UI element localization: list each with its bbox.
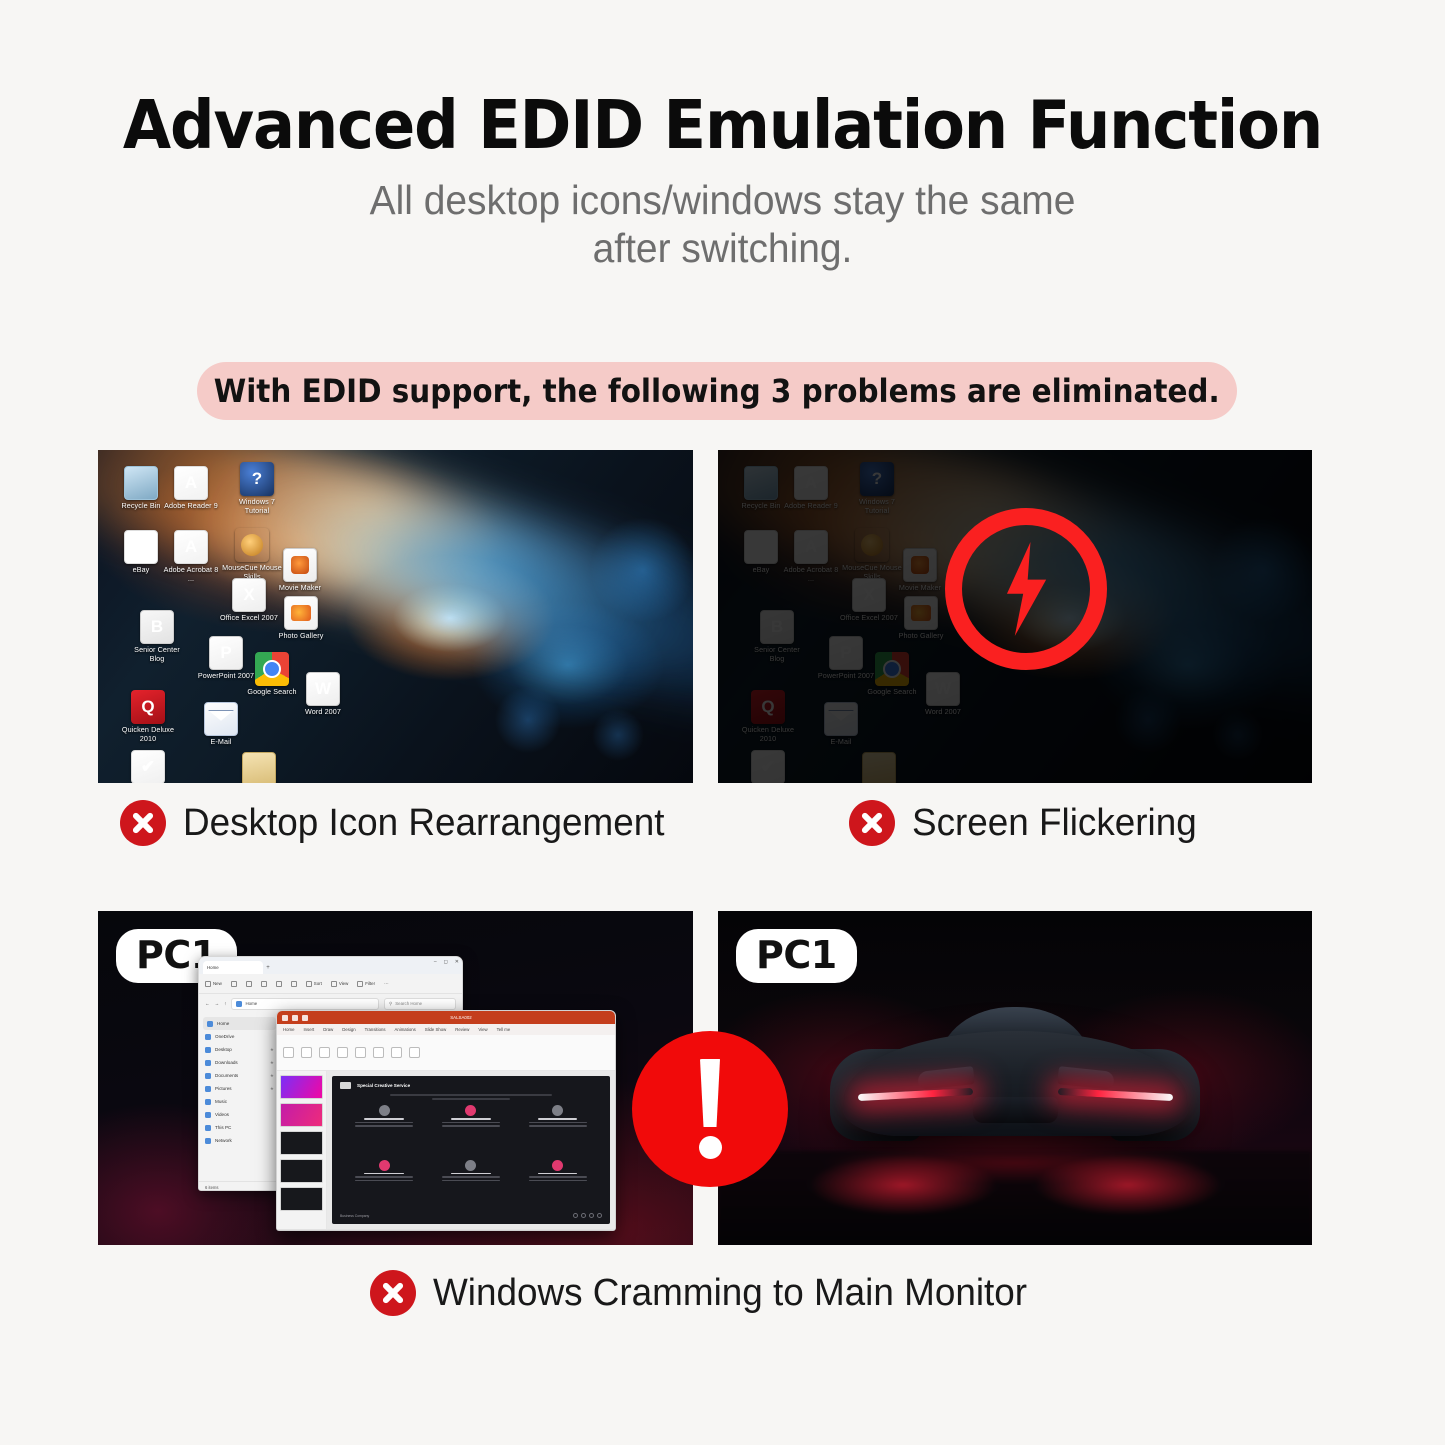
caption-windows-cramming: Windows Cramming to Main Monitor	[370, 1270, 1045, 1316]
sidebar-item-label: Videos	[215, 1112, 229, 1117]
home-icon	[207, 1021, 213, 1027]
icon-glyph: X	[232, 578, 266, 612]
slide-feature-cell	[430, 1160, 513, 1211]
pin-icon[interactable]: ★	[270, 1060, 274, 1066]
ground-reflection	[718, 1151, 1312, 1245]
panel-desktop-normal: Recycle BinAAdobe Reader 9?Windows 7 Tut…	[98, 450, 693, 783]
sidebar-item-label: Downloads	[215, 1060, 238, 1065]
tab-transitions[interactable]: Transitions	[365, 1027, 386, 1032]
font-icon[interactable]	[337, 1047, 348, 1058]
panel-windows-cramming: PC1 Home + – ◻ ✕ New So	[98, 911, 693, 1245]
paste-icon[interactable]	[283, 1047, 294, 1058]
icon-glyph: ✔	[131, 750, 165, 783]
arrange-icon[interactable]	[391, 1047, 402, 1058]
home-icon	[236, 1001, 242, 1007]
desktop-icon-label: Word 2007	[292, 708, 354, 717]
icon-glyph: ?	[240, 462, 274, 496]
slide-thumbnail[interactable]	[280, 1159, 323, 1183]
powerpoint-body: Special Creative Service Business Compan…	[277, 1071, 615, 1229]
sidebar-item-label: Network	[215, 1138, 232, 1143]
sidebar-item-desktop[interactable]: Desktop★	[199, 1043, 280, 1056]
slide-thumbnail[interactable]	[280, 1075, 323, 1099]
x-circle-icon	[849, 800, 895, 846]
icon-glyph: eb	[124, 530, 158, 564]
breadcrumb[interactable]: Home	[231, 998, 379, 1010]
feature-icon	[379, 1160, 390, 1171]
pictures-icon	[205, 1086, 211, 1092]
desktop-icon-label: Quicken Deluxe 2010	[117, 726, 179, 744]
desktop-icon-e-mail[interactable]: E-Mail	[190, 702, 252, 747]
slide-canvas: Special Creative Service Business Compan…	[332, 1076, 610, 1224]
sidebar-item-onedrive[interactable]: OneDrive	[199, 1030, 280, 1043]
desktop-icon-grid: Recycle BinAAdobe Reader 9?Windows 7 Tut…	[98, 450, 693, 783]
sidebar-item-pictures[interactable]: Pictures★	[199, 1082, 280, 1095]
desktop-icon-label: Senior Center Blog	[126, 646, 188, 664]
sidebar-item-network[interactable]: Network	[199, 1134, 280, 1147]
desktop-icon-bwsc-manuals[interactable]: BWSC Manuals	[228, 752, 290, 783]
desktop-icon-windows-7-tutorial[interactable]: ?Windows 7 Tutorial	[226, 462, 288, 516]
icon-glyph: A	[174, 466, 208, 500]
onedrive-icon	[205, 1034, 211, 1040]
slide-feature-grid	[340, 1100, 602, 1210]
feature-title-line	[538, 1173, 578, 1175]
tab-draw[interactable]: Draw	[323, 1027, 333, 1032]
sidebar-item-videos[interactable]: Videos	[199, 1108, 280, 1121]
slide-thumbnail[interactable]	[280, 1131, 323, 1155]
feature-icon	[379, 1105, 390, 1116]
sidebar-item-home[interactable]: Home	[203, 1017, 276, 1030]
sidebar-item-label: OneDrive	[215, 1034, 234, 1039]
feature-icon	[465, 1105, 476, 1116]
window-controls[interactable]: – ◻ ✕	[434, 959, 459, 965]
tab-home-label: Home	[207, 965, 219, 970]
tab-animations[interactable]: Animations	[395, 1027, 416, 1032]
slide-footer-text: Business Company	[340, 1214, 369, 1218]
new-button-label: New	[213, 981, 222, 986]
feature-text-line	[355, 1125, 413, 1127]
close-icon[interactable]: ✕	[455, 959, 459, 965]
file-explorer-toolbar: New Sort View Filter ⋯	[199, 974, 462, 994]
feature-title-line	[451, 1173, 491, 1175]
powerpoint-title: SALSA002	[312, 1015, 610, 1020]
rename-icon[interactable]	[276, 981, 282, 987]
desktop-icon-adobe-acrobat-8[interactable]: AAdobe Acrobat 8 ...	[160, 530, 222, 584]
desktop-icon-label: E-Mail	[190, 738, 252, 747]
shapes-icon[interactable]	[373, 1047, 384, 1058]
filter-button[interactable]: Filter	[357, 981, 375, 987]
desktop-icon-senior-center-blog[interactable]: BSenior Center Blog	[126, 610, 188, 664]
icon-glyph	[124, 466, 158, 500]
caption-desktop-icon-rearrangement: Desktop Icon Rearrangement	[120, 800, 679, 846]
x-circle-icon	[120, 800, 166, 846]
edid-support-banner: With EDID support, the following 3 probl…	[197, 362, 1237, 420]
exclamation-dot	[699, 1136, 722, 1159]
new-button[interactable]: New	[205, 981, 222, 987]
sort-button[interactable]: Sort	[306, 981, 322, 987]
page-subtitle-line1: All desktop icons/windows stay the same	[36, 176, 1409, 224]
copy-icon[interactable]	[246, 981, 252, 987]
desktop-icon-label: Adobe Acrobat 8 ...	[160, 566, 222, 584]
slide-thumbnail[interactable]	[280, 1187, 323, 1211]
feature-text-line	[355, 1122, 413, 1124]
slide-feature-cell	[516, 1105, 599, 1156]
feature-title-line	[451, 1118, 491, 1120]
desktop-icon	[205, 1047, 211, 1053]
slide-header: Special Creative Service	[340, 1082, 602, 1089]
slide-subtitle-line	[390, 1094, 552, 1096]
view-button-label: View	[339, 981, 348, 986]
page-subtitle-line2: after switching.	[36, 224, 1409, 272]
x-circle-icon	[370, 1270, 416, 1316]
feature-text-line	[442, 1122, 500, 1124]
powerpoint-ribbon-tabs: HomeInsertDrawDesignTransitionsAnimation…	[277, 1024, 615, 1035]
feature-text-line	[529, 1125, 587, 1127]
desktop-icon-photo-gallery[interactable]: Photo Gallery	[270, 596, 332, 641]
downloads-icon	[205, 1060, 211, 1066]
sidebar-item-documents[interactable]: Documents★	[199, 1069, 280, 1082]
slide-footer: Business Company	[340, 1210, 602, 1218]
icon-glyph	[235, 528, 269, 562]
panel-main-monitor: PC1	[718, 911, 1312, 1245]
feature-text-line	[529, 1122, 587, 1124]
banner-text: With EDID support, the following 3 probl…	[214, 372, 1220, 410]
file-explorer-tabbar: Home + – ◻ ✕	[199, 957, 462, 974]
pin-icon[interactable]: ★	[270, 1086, 274, 1092]
save-icon[interactable]	[282, 1015, 288, 1021]
redo-icon[interactable]	[302, 1015, 308, 1021]
feature-title-line	[538, 1118, 578, 1120]
tab-slide-show[interactable]: Slide Show	[425, 1027, 447, 1032]
up-icon[interactable]: ↑	[224, 1001, 226, 1006]
new-tab-button[interactable]: +	[263, 961, 273, 974]
powerpoint-window[interactable]: SALSA002 HomeInsertDrawDesignTransitions…	[276, 1010, 616, 1231]
icon-glyph	[283, 548, 317, 582]
feature-title-line	[364, 1173, 404, 1175]
maximize-icon[interactable]: ◻	[444, 959, 448, 965]
delete-icon[interactable]	[291, 981, 297, 987]
car-grille	[973, 1097, 1058, 1123]
new-slide-icon[interactable]	[301, 1047, 312, 1058]
lightning-bolt-icon	[945, 508, 1107, 670]
tab-insert[interactable]: Insert	[303, 1027, 314, 1032]
view-button[interactable]: View	[331, 981, 348, 987]
icon-glyph: B	[140, 610, 174, 644]
desktop-icon-label: Adobe Reader 9	[160, 502, 222, 511]
feature-text-line	[529, 1180, 587, 1182]
feature-title-line	[364, 1118, 404, 1120]
sidebar-item-label: This PC	[215, 1125, 231, 1130]
breadcrumb-label: Home	[245, 1001, 257, 1006]
undo-icon[interactable]	[292, 1015, 298, 1021]
videos-icon	[205, 1112, 211, 1118]
search-icon: ⚲	[389, 1001, 392, 1007]
tab-design[interactable]: Design	[342, 1027, 355, 1032]
brand-logo-icon	[340, 1082, 351, 1089]
network-icon	[205, 1138, 211, 1144]
tab-home[interactable]: Home	[283, 1027, 294, 1032]
back-icon[interactable]: ←	[205, 1001, 210, 1006]
slide-social-icons	[573, 1213, 602, 1218]
feature-icon	[552, 1105, 563, 1116]
powerpoint-ribbon	[277, 1035, 615, 1071]
desktop-icon-turbotax-2010[interactable]: ✔TurboTax 2010	[117, 750, 179, 783]
sidebar-item-downloads[interactable]: Downloads★	[199, 1056, 280, 1069]
feature-text-line	[529, 1176, 587, 1178]
powerpoint-status-bar: Slide 4 Notes 100%	[277, 1229, 615, 1231]
icon-glyph	[284, 596, 318, 630]
icon-glyph: W	[306, 672, 340, 706]
icon-glyph	[242, 752, 276, 783]
page-subtitle: All desktop icons/windows stay the same …	[36, 176, 1409, 273]
feature-text-line	[355, 1176, 413, 1178]
more-options-icon[interactable]: ⋯	[384, 981, 388, 987]
tab-review[interactable]: Review	[455, 1027, 469, 1032]
tab-home[interactable]: Home	[203, 961, 263, 974]
sidebar-item-this-pc[interactable]: This PC	[199, 1121, 280, 1134]
pin-icon[interactable]: ★	[270, 1047, 274, 1053]
page-root: Advanced EDID Emulation Function All des…	[0, 0, 1445, 1445]
desktop-icon-label: Windows 7 Tutorial	[226, 498, 288, 516]
caption-text: Screen Flickering	[912, 802, 1197, 845]
slide-feature-cell	[430, 1105, 513, 1156]
tab-tell-me[interactable]: Tell me	[497, 1027, 511, 1032]
desktop-icon-quicken-deluxe-2010[interactable]: QQuicken Deluxe 2010	[117, 690, 179, 744]
paste-icon[interactable]	[261, 981, 267, 987]
sort-button-label: Sort	[314, 981, 322, 986]
search-input[interactable]: ⚲ Search Home	[384, 998, 456, 1010]
powerpoint-titlebar: SALSA002	[277, 1011, 615, 1024]
slide-feature-cell	[516, 1160, 599, 1211]
feature-icon	[552, 1160, 563, 1171]
file-explorer-nav-pane: HomeOneDriveDesktop★Downloads★Documents★…	[199, 1013, 281, 1181]
page-title: Advanced EDID Emulation Function	[51, 86, 1395, 164]
sidebar-item-music[interactable]: Music	[199, 1095, 280, 1108]
icon-glyph: A	[174, 530, 208, 564]
sidebar-item-label: Music	[215, 1099, 227, 1104]
caption-text: Desktop Icon Rearrangement	[183, 802, 664, 845]
icon-glyph	[255, 652, 289, 686]
feature-text-line	[442, 1180, 500, 1182]
feature-text-line	[355, 1180, 413, 1182]
exclamation-bar	[698, 1059, 723, 1127]
icon-glyph: Q	[131, 690, 165, 724]
desktop-icon-word-2007[interactable]: WWord 2007	[292, 672, 354, 717]
sidebar-item-label: Home	[217, 1021, 229, 1026]
slide-thumbnail[interactable]	[280, 1103, 323, 1127]
slide-feature-cell	[343, 1160, 426, 1211]
lightning-bolt-shape	[998, 542, 1054, 636]
sidebar-item-label: Desktop	[215, 1047, 232, 1052]
panel-desktop-flicker: Recycle BinAAdobe Reader 9?Windows 7 Tut…	[718, 450, 1312, 783]
feature-text-line	[442, 1176, 500, 1178]
paragraph-icon[interactable]	[355, 1047, 366, 1058]
tab-view[interactable]: View	[478, 1027, 487, 1032]
sidebar-item-label: Documents	[215, 1073, 238, 1078]
minimize-icon[interactable]: –	[434, 959, 437, 965]
slide-thumbnail-pane	[277, 1071, 327, 1229]
music-icon	[205, 1099, 211, 1105]
layout-icon[interactable]	[319, 1047, 330, 1058]
feature-icon	[465, 1160, 476, 1171]
pc1-badge-right: PC1	[736, 929, 857, 983]
search-placeholder: Search Home	[395, 1001, 422, 1006]
forward-icon[interactable]: →	[215, 1001, 220, 1006]
item-count: 6 items	[205, 1185, 219, 1190]
icon-glyph: P	[209, 636, 243, 670]
feature-text-line	[442, 1125, 500, 1127]
cut-icon[interactable]	[231, 981, 237, 987]
designer-icon[interactable]	[409, 1047, 420, 1058]
pin-icon[interactable]: ★	[270, 1073, 274, 1079]
documents-icon	[205, 1073, 211, 1079]
desktop-icon-adobe-reader-9[interactable]: AAdobe Reader 9	[160, 466, 222, 511]
caption-screen-flickering: Screen Flickering	[849, 800, 1206, 846]
slide-stage[interactable]: Special Creative Service Business Compan…	[327, 1071, 615, 1229]
this-pc-icon	[205, 1125, 211, 1131]
caption-text: Windows Cramming to Main Monitor	[433, 1272, 1027, 1315]
exclamation-circle-icon	[632, 1031, 788, 1187]
desktop-icon-label: Photo Gallery	[270, 632, 332, 641]
filter-button-label: Filter	[365, 981, 375, 986]
slide-feature-cell	[343, 1105, 426, 1156]
slide-title: Special Creative Service	[357, 1083, 410, 1088]
icon-glyph	[204, 702, 238, 736]
sidebar-item-label: Pictures	[215, 1086, 232, 1091]
